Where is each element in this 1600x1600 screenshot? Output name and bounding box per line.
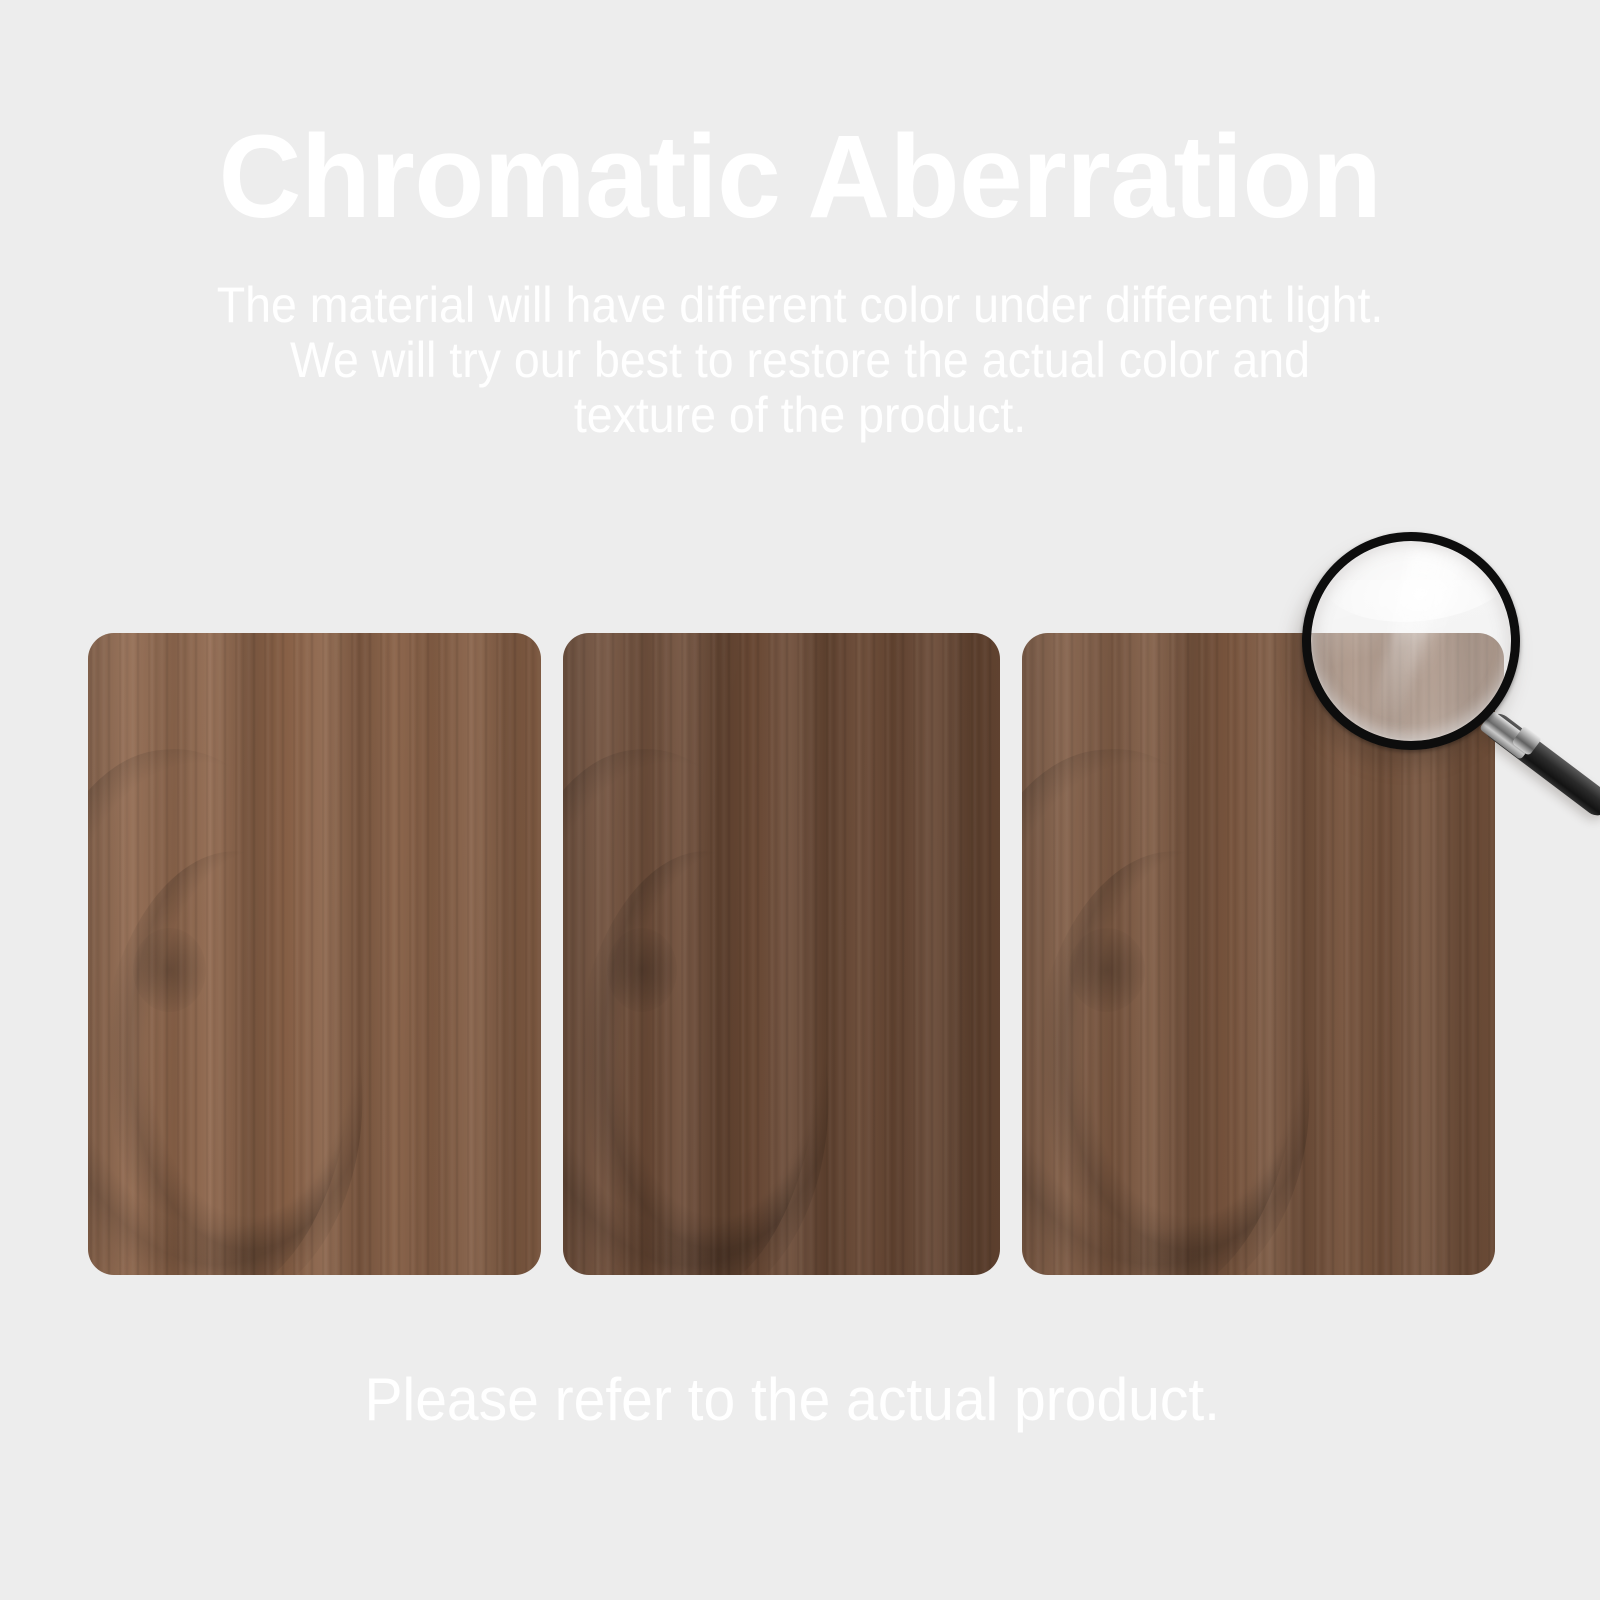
wood-swatch-2 [563, 633, 1000, 1275]
wood-swatch-3 [1022, 633, 1495, 1275]
wood-swatch-1 [88, 633, 541, 1275]
subtitle-line-1: The material will have different color u… [149, 278, 1451, 333]
footer-banner: Please refer to the actual product. [82, 1340, 1502, 1460]
magnifier-handle [1480, 709, 1600, 821]
header-band: Chromatic Aberration The material will h… [0, 0, 1600, 580]
subtitle-line-3: texture of the product. [149, 388, 1451, 443]
page-title: Chromatic Aberration [24, 118, 1576, 236]
swatch-row [88, 633, 1495, 1275]
infographic-canvas: Chromatic Aberration The material will h… [0, 0, 1600, 1600]
footer-banner-text: Please refer to the actual product. [364, 1370, 1220, 1430]
wood-sheen-3 [1022, 633, 1495, 1275]
subtitle-line-2: We will try our best to restore the actu… [149, 333, 1451, 388]
magnifier-ferrule-band [1511, 725, 1542, 756]
header-subtitle: The material will have different color u… [149, 278, 1451, 443]
wood-sheen-2 [563, 633, 1000, 1275]
wood-sheen-1 [88, 633, 541, 1275]
